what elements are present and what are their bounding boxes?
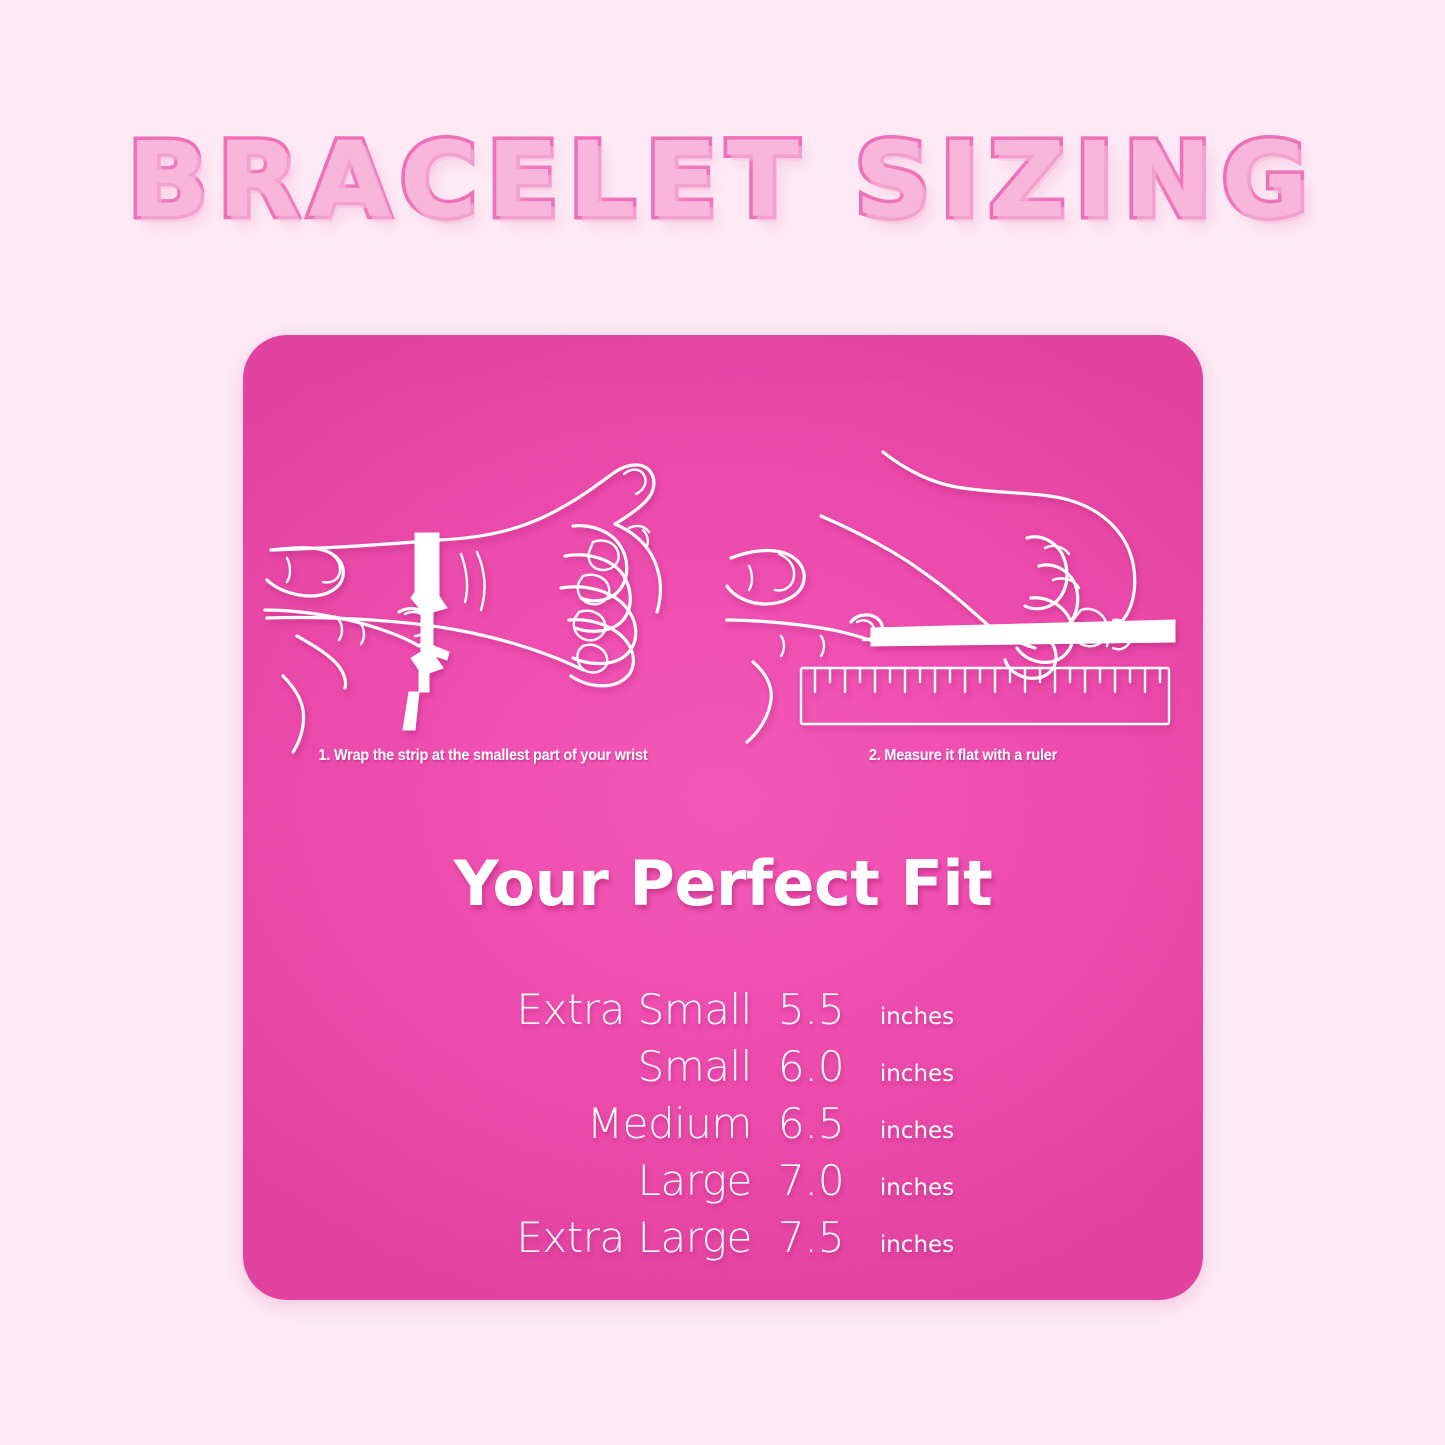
ruler-measure-icon (723, 430, 1203, 760)
step-captions: 1. Wrap the strip at the smallest part o… (243, 747, 1203, 765)
size-value: 6.0 (752, 1042, 873, 1091)
size-unit: inches (873, 1232, 954, 1258)
size-value: 7.5 (752, 1213, 873, 1262)
size-unit: inches (873, 1118, 954, 1144)
size-label: Medium (492, 1099, 752, 1148)
step-2-caption: 2. Measure it flat with a ruler (740, 747, 1186, 765)
page-title: BRACELET SIZING (0, 128, 1445, 232)
size-label: Extra Large (492, 1213, 752, 1262)
size-label: Small (492, 1042, 752, 1091)
size-value: 5.5 (752, 985, 873, 1034)
size-value: 7.0 (752, 1156, 873, 1205)
size-table: Extra Small 5.5 inches Small 6.0 inches … (243, 985, 1203, 1262)
page-title-text: BRACELET SIZING (127, 128, 1317, 232)
size-unit: inches (873, 1061, 954, 1087)
wrist-wrap-icon (243, 430, 723, 760)
size-label: Extra Small (492, 985, 752, 1034)
sizing-card: 1. Wrap the strip at the smallest part o… (243, 335, 1203, 1300)
size-row: Extra Small 5.5 inches (243, 985, 1203, 1034)
perfect-fit-headline: Your Perfect Fit (243, 847, 1203, 920)
size-unit: inches (873, 1175, 954, 1201)
size-row: Medium 6.5 inches (243, 1099, 1203, 1148)
size-unit: inches (873, 1004, 954, 1030)
step-2-illustration (723, 430, 1203, 760)
size-row: Extra Large 7.5 inches (243, 1213, 1203, 1262)
size-label: Large (492, 1156, 752, 1205)
size-value: 6.5 (752, 1099, 873, 1148)
size-row: Large 7.0 inches (243, 1156, 1203, 1205)
size-row: Small 6.0 inches (243, 1042, 1203, 1091)
step-1-caption: 1. Wrap the strip at the smallest part o… (260, 747, 706, 765)
illustration-row (243, 430, 1203, 760)
step-1-illustration (243, 430, 723, 760)
